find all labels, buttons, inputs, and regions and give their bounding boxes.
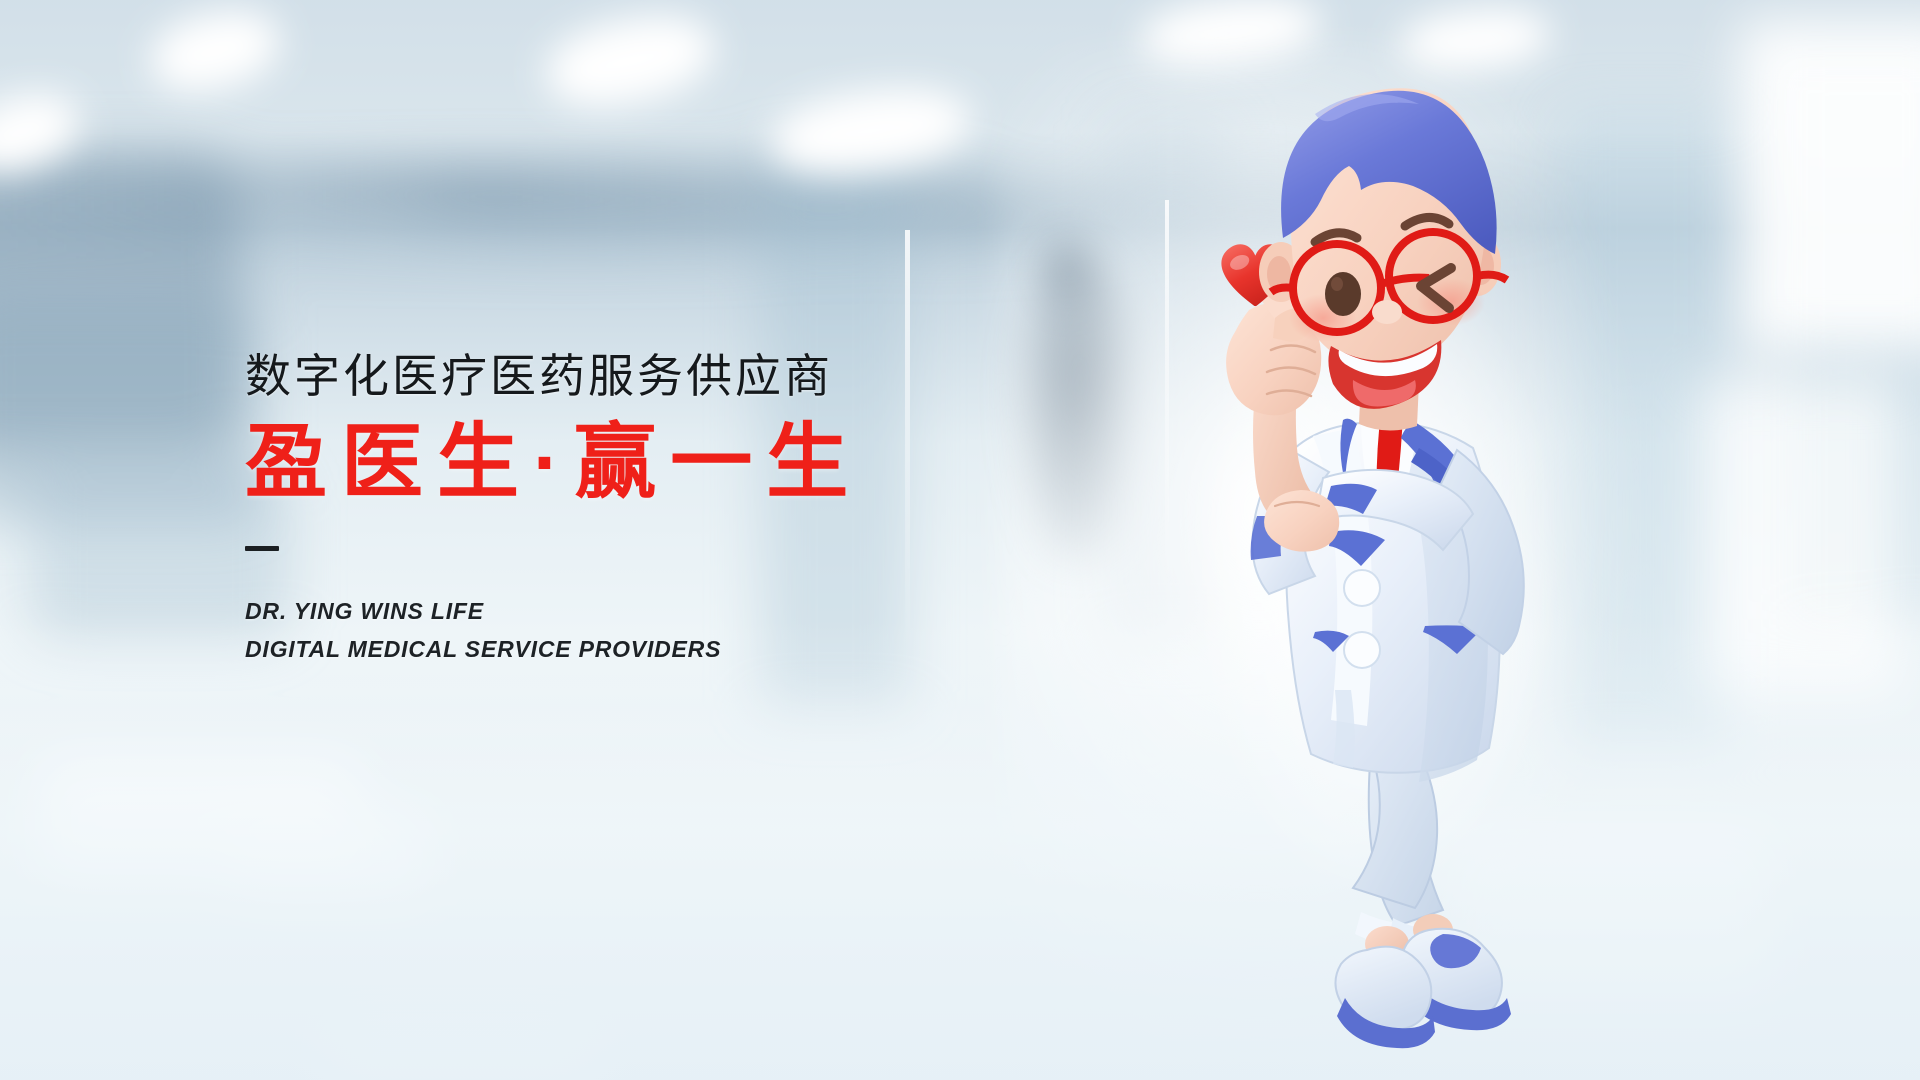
window-right <box>1740 20 1920 350</box>
floor-glow <box>0 620 1920 1080</box>
coat-button-top <box>1344 570 1380 606</box>
slogan: 盈医生·赢一生 <box>245 422 1025 504</box>
page-title: 数字化医疗医药服务供应商 <box>245 352 1025 400</box>
divider-dash <box>245 546 279 551</box>
subtitle-line-2: DIGITAL MEDICAL SERVICE PROVIDERS <box>245 631 1025 668</box>
eye-left-open <box>1325 272 1361 316</box>
nose <box>1372 300 1402 324</box>
coat-button-bottom <box>1344 632 1380 668</box>
eye-left-highlight <box>1331 277 1343 291</box>
hero-copy: 数字化医疗医药服务供应商 盈医生·赢一生 DR. YING WINS LIFE … <box>245 352 1025 668</box>
subtitle-line-1: DR. YING WINS LIFE <box>245 593 1025 630</box>
glasses-temple-left <box>1271 288 1293 293</box>
shoes <box>1335 929 1511 1048</box>
doctor-character-illustration <box>1175 50 1595 1040</box>
hero-banner: 数字化医疗医药服务供应商 盈医生·赢一生 DR. YING WINS LIFE … <box>0 0 1920 1080</box>
subtitle-block: DR. YING WINS LIFE DIGITAL MEDICAL SERVI… <box>245 593 1025 668</box>
